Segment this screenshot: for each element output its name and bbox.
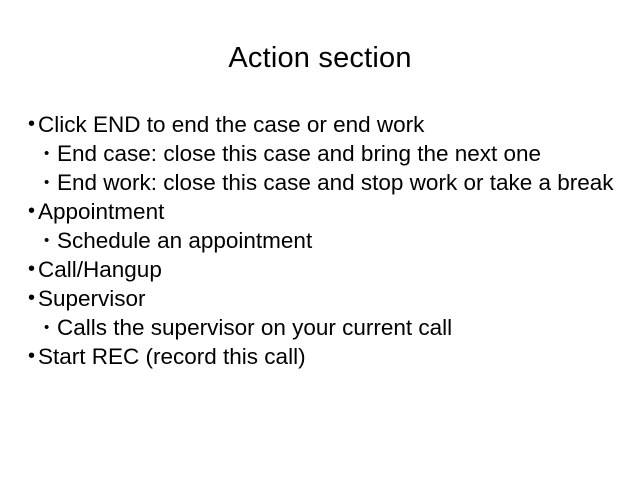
bullet-icon: • (43, 313, 57, 342)
list-item-label: Calls the supervisor on your current cal… (57, 313, 620, 342)
list-item: • Schedule an appointment (28, 226, 620, 255)
bullet-icon: • (43, 226, 57, 255)
bullet-list: • Click END to end the case or end work … (28, 110, 620, 371)
list-item: • Start REC (record this call) (28, 342, 620, 371)
list-item-label: Call/Hangup (38, 255, 620, 284)
bullet-icon: • (28, 197, 38, 226)
page-title: Action section (0, 40, 640, 76)
list-item: • Call/Hangup (28, 255, 620, 284)
list-item-label: Start REC (record this call) (38, 342, 620, 371)
list-item: • End case: close this case and bring th… (28, 139, 620, 168)
bullet-icon: • (28, 284, 38, 313)
list-item: • End work: close this case and stop wor… (28, 168, 620, 197)
list-item-label: End work: close this case and stop work … (57, 168, 620, 197)
bullet-icon: • (28, 255, 38, 284)
list-item: • Calls the supervisor on your current c… (28, 313, 620, 342)
list-item: • Click END to end the case or end work (28, 110, 620, 139)
list-item-label: Click END to end the case or end work (38, 110, 620, 139)
list-item-label: Supervisor (38, 284, 620, 313)
presentation-slide: Action section • Click END to end the ca… (0, 0, 640, 480)
list-item: • Supervisor (28, 284, 620, 313)
bullet-icon: • (43, 168, 57, 197)
bullet-icon: • (28, 342, 38, 371)
list-item-label: Appointment (38, 197, 620, 226)
bullet-icon: • (28, 110, 38, 139)
list-item: • Appointment (28, 197, 620, 226)
list-item-label: Schedule an appointment (57, 226, 620, 255)
list-item-label: End case: close this case and bring the … (57, 139, 620, 168)
bullet-icon: • (43, 139, 57, 168)
